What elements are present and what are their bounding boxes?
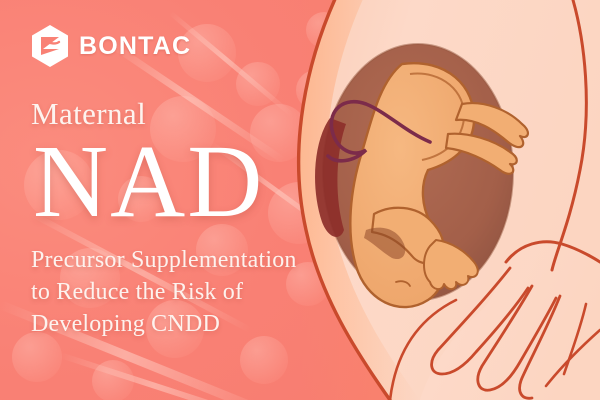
banner-root: BONTAC Maternal NAD Precursor Supplement… (0, 0, 600, 400)
bontac-hexagon-z-icon (30, 24, 70, 68)
bontac-logo[interactable]: BONTAC (30, 24, 191, 68)
subtitle-line-3: Developing CNDD (31, 309, 376, 341)
subtitle-line-2: to Reduce the Risk of (31, 277, 376, 309)
bontac-wordmark: BONTAC (79, 34, 191, 59)
headline-block: Maternal NAD Precursor Supplementation t… (31, 96, 391, 341)
headline-title: NAD (33, 136, 391, 228)
headline-subtitle: Precursor Supplementation to Reduce the … (31, 245, 376, 341)
subtitle-line-1: Precursor Supplementation (31, 245, 376, 277)
